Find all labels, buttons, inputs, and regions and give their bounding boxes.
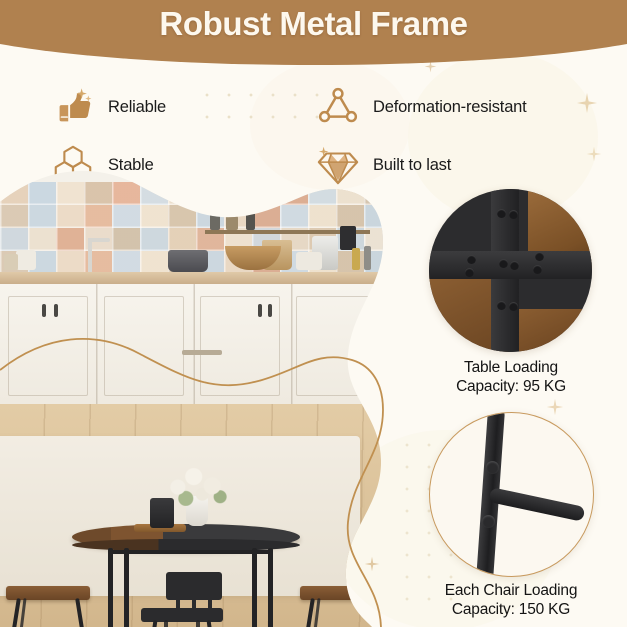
label-chair-capacity-line2: Capacity: 150 KG [406,600,616,619]
infographic-root: Robust Metal Frame Reliable Stable [0,0,627,627]
feature-label-reliable: Reliable [108,98,166,117]
kitchen-scene [0,168,400,627]
detail-image-chair-joint [429,412,594,577]
label-table-capacity-line2: Capacity: 95 KG [406,377,616,396]
feature-label-deformation-resistant: Deformation-resistant [373,98,527,117]
thumbs-up-icon [50,84,96,130]
page-title: Robust Metal Frame [0,2,627,46]
label-table-capacity-line1: Table Loading [464,359,558,376]
detail-image-table-joint [429,189,592,352]
dot-grid-top [196,84,324,134]
label-chair-capacity-line1: Each Chair Loading [445,582,578,599]
header-banner: Robust Metal Frame [0,0,627,72]
label-chair-capacity: Each Chair Loading Capacity: 150 KG [406,581,616,619]
flower-bouquet [166,464,232,506]
triangle-node-icon [315,84,361,130]
sparkle-icon-mid-right [586,146,602,162]
feature-item-reliable: Reliable [50,84,166,130]
sparkle-icon-near-chair-circle [546,398,564,416]
sparkle-icon-top-right [576,92,598,114]
feature-item-deformation-resistant: Deformation-resistant [315,84,527,130]
label-table-capacity: Table Loading Capacity: 95 KG [406,358,616,396]
kitchen-photo [0,168,400,627]
